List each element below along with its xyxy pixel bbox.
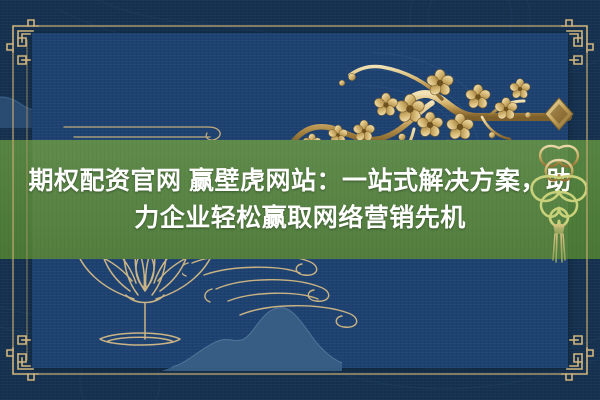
- banner-root: 期权配资官网 赢壁虎网站：一站式解决方案，助 力企业轻松赢取网络营销先机: [0, 0, 600, 400]
- headline-line-2: 力企业轻松赢取网络营销先机: [134, 201, 466, 235]
- headline-block: 期权配资官网 赢壁虎网站：一站式解决方案，助 力企业轻松赢取网络营销先机: [0, 140, 600, 259]
- headline-line-1: 期权配资官网 赢壁虎网站：一站式解决方案，助: [29, 164, 572, 198]
- mountain-silhouette-right: [162, 291, 342, 371]
